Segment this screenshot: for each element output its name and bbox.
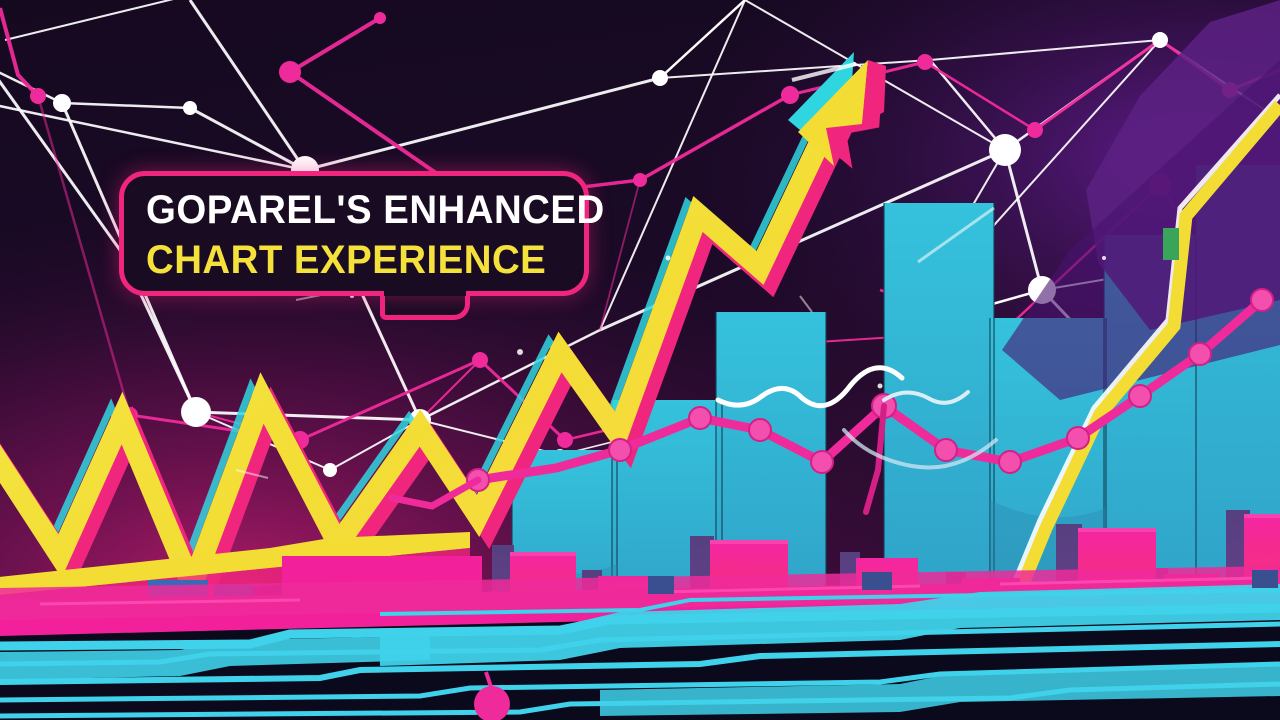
sparkle-layer: [0, 0, 1280, 720]
sparkle-streak: [236, 292, 812, 478]
badge-tail-mask: [384, 286, 466, 296]
title-badge: GOPAREL'S ENHANCED CHART EXPERIENCE: [119, 171, 589, 296]
title-line-2: CHART EXPERIENCE: [146, 240, 545, 281]
artwork-canvas: GOPAREL'S ENHANCED CHART EXPERIENCE: [0, 0, 1280, 720]
title-line-1: GOPAREL'S ENHANCED: [146, 190, 545, 231]
